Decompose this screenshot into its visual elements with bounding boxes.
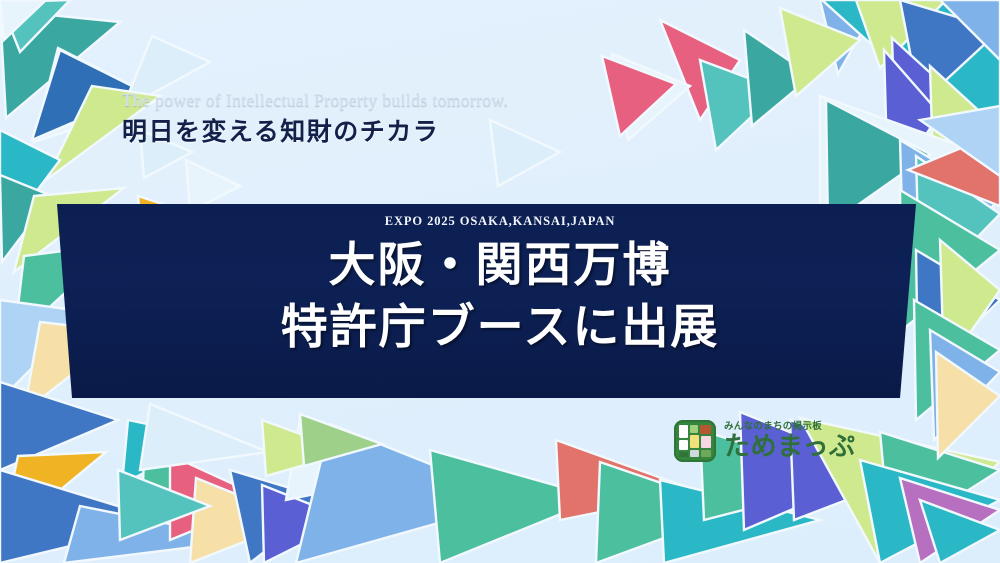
tamemap-logo[interactable]: みんなのまちの掲示板 ためまっぷ (674, 420, 855, 462)
decorative-triangle (908, 132, 1000, 206)
decorative-triangle (892, 38, 960, 150)
decorative-triangle (780, 8, 860, 96)
tamemap-bulletin-board-icon (674, 420, 716, 462)
decorative-triangle (430, 450, 600, 563)
logo-name: ためまっぷ (724, 434, 855, 460)
decorative-triangle (0, 470, 170, 563)
icon-tile (690, 435, 699, 448)
banner-text-block: EXPO 2025 OSAKA,KANSAI,JAPAN 大阪・関西万博 特許庁… (0, 198, 1000, 404)
icon-tile-grid (679, 425, 711, 457)
icon-tile (700, 425, 711, 434)
decorative-triangle (0, 0, 46, 40)
banner-headline: 大阪・関西万博 特許庁ブースに出展 (281, 235, 720, 359)
decorative-triangle (0, 0, 70, 52)
decorative-triangle (122, 420, 214, 484)
decorative-triangle (820, 0, 880, 74)
icon-tile (701, 436, 711, 448)
tagline-block: The power of Intellectual Property build… (122, 90, 508, 147)
decorative-triangle (170, 455, 268, 540)
decorative-triangle (700, 60, 780, 150)
decorative-triangle (262, 420, 350, 476)
decorative-triangle (900, 0, 1000, 104)
decorative-triangle (884, 50, 940, 190)
decorative-triangle (880, 432, 1000, 540)
main-banner: EXPO 2025 OSAKA,KANSAI,JAPAN 大阪・関西万博 特許庁… (0, 198, 1000, 404)
decorative-triangle (744, 30, 812, 126)
headline-line-1: 大阪・関西万博 (281, 235, 720, 297)
icon-tile (679, 440, 688, 450)
tagline-english: The power of Intellectual Property build… (122, 90, 508, 112)
decorative-triangle (300, 414, 382, 466)
icon-tile (679, 452, 688, 457)
decorative-triangle (230, 470, 330, 563)
decorative-triangle (660, 20, 740, 120)
decorative-triangle (0, 452, 106, 540)
decorative-triangle (660, 480, 820, 563)
icon-tile (679, 425, 688, 438)
decorative-triangle (64, 506, 250, 563)
decorative-triangle (920, 500, 1000, 563)
decorative-triangle (900, 478, 1000, 563)
decorative-triangle (286, 418, 430, 500)
logo-subtitle: みんなのまちの掲示板 (724, 422, 855, 432)
icon-tile (690, 450, 699, 457)
decorative-triangle (262, 485, 350, 563)
expo-announcement-poster: The power of Intellectual Property build… (0, 0, 1000, 563)
icon-tile (701, 450, 711, 457)
icon-tile (690, 425, 698, 433)
decorative-triangle (140, 404, 268, 470)
decorative-triangle (920, 106, 1000, 176)
decorative-triangle (142, 452, 236, 520)
decorative-triangle (940, 0, 1000, 60)
decorative-triangle (596, 462, 740, 563)
decorative-triangle (0, 10, 120, 118)
decorative-triangle (602, 56, 676, 136)
tagline-japanese: 明日を変える知財のチカラ (122, 116, 508, 147)
expo-eyebrow-text: EXPO 2025 OSAKA,KANSAI,JAPAN (385, 214, 616, 229)
decorative-triangle (930, 66, 1000, 200)
decorative-triangle (856, 0, 946, 68)
headline-line-2: 特許庁ブースに出展 (281, 297, 720, 359)
decorative-triangle (118, 470, 210, 540)
decorative-triangle (822, 0, 1000, 160)
logo-wordmark: みんなのまちの掲示板 ためまっぷ (724, 422, 855, 460)
decorative-triangle (190, 478, 300, 563)
decorative-triangle (612, 54, 690, 140)
decorative-triangle (860, 460, 1000, 563)
decorative-triangle (296, 424, 520, 563)
